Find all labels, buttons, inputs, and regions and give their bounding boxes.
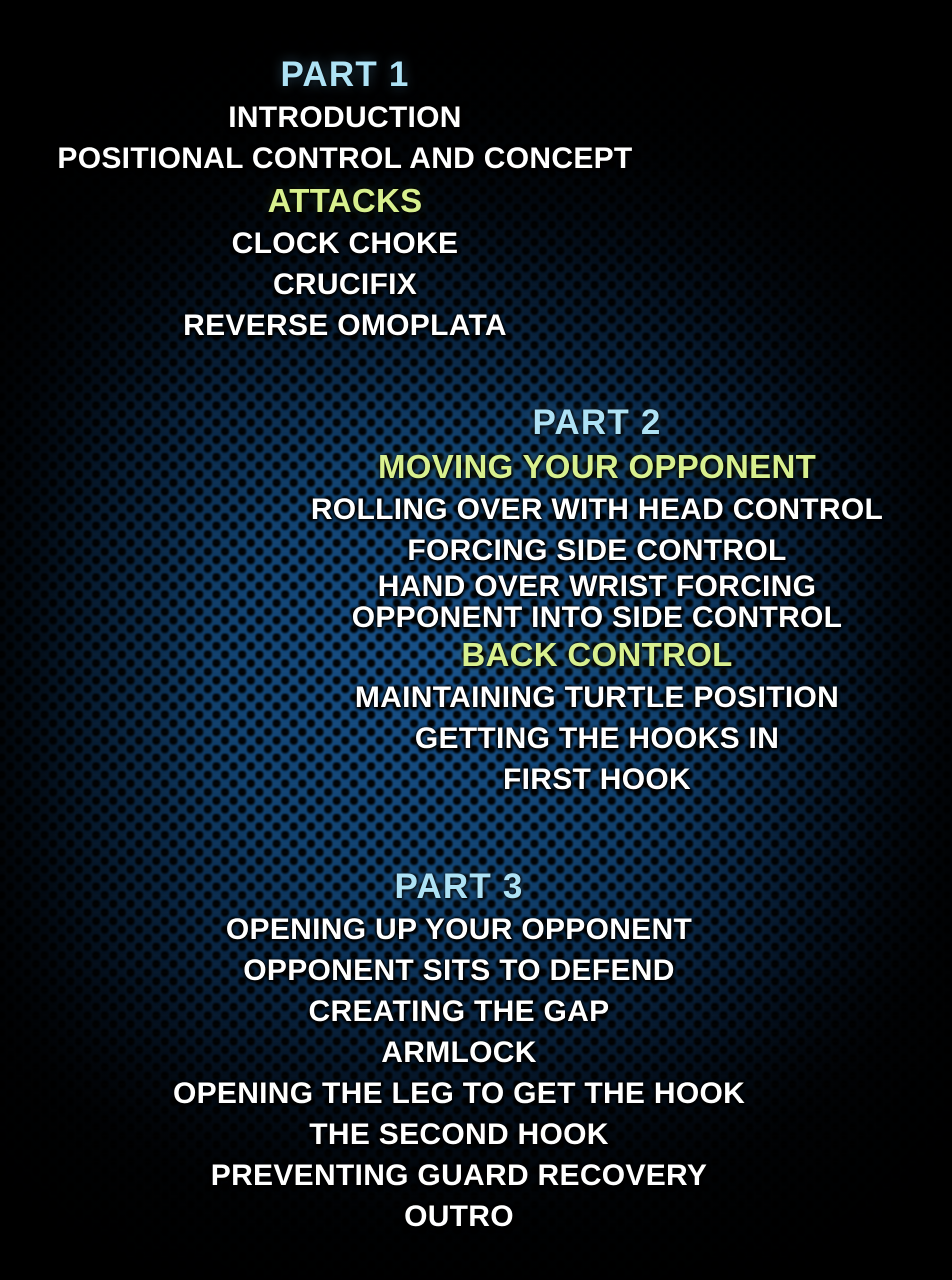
part-1-item-clock-choke: CLOCK CHOKE	[57, 223, 632, 264]
part-3-block: PART 3 OPENING UP YOUR OPPONENT OPPONENT…	[173, 864, 745, 1237]
part-2-item-first-hook: FIRST HOOK	[290, 759, 905, 800]
part-2-item-hand-over-wrist-forcing-opponent-into-side-control: HAND OVER WRIST FORCING OPPONENT INTO SI…	[290, 571, 905, 633]
part-3-item-opening-up-your-opponent: OPENING UP YOUR OPPONENT	[173, 909, 745, 950]
part-1-block: PART 1 INTRODUCTION POSITIONAL CONTROL A…	[57, 52, 632, 346]
part-1-item-reverse-omoplata: REVERSE OMOPLATA	[57, 305, 632, 346]
part-3-item-opening-the-leg-to-get-the-hook: OPENING THE LEG TO GET THE HOOK	[173, 1073, 745, 1114]
part-1-item-introduction: INTRODUCTION	[57, 97, 632, 138]
part-3-heading: PART 3	[173, 864, 745, 909]
part-3-item-preventing-guard-recovery: PREVENTING GUARD RECOVERY	[173, 1155, 745, 1196]
part-1-section-attacks: ATTACKS	[57, 179, 632, 223]
part-1-item-positional-control-and-concept: POSITIONAL CONTROL AND CONCEPT	[57, 138, 632, 179]
part-2-section-moving-your-opponent: MOVING YOUR OPPONENT	[290, 445, 905, 489]
part-2-item-rolling-over-with-head-control: ROLLING OVER WITH HEAD CONTROL	[290, 489, 905, 530]
part-3-item-opponent-sits-to-defend: OPPONENT SITS TO DEFEND	[173, 950, 745, 991]
part-3-item-armlock: ARMLOCK	[173, 1032, 745, 1073]
part-2-item-maintaining-turtle-position: MAINTAINING TURTLE POSITION	[290, 677, 905, 718]
part-2-section-back-control: BACK CONTROL	[290, 633, 905, 677]
part-2-item-getting-the-hooks-in: GETTING THE HOOKS IN	[290, 718, 905, 759]
part-1-heading: PART 1	[57, 52, 632, 97]
part-3-item-the-second-hook: THE SECOND HOOK	[173, 1114, 745, 1155]
part-3-item-outro: OUTRO	[173, 1196, 745, 1237]
part-1-item-crucifix: CRUCIFIX	[57, 264, 632, 305]
part-3-item-creating-the-gap: CREATING THE GAP	[173, 991, 745, 1032]
part-2-block: PART 2 MOVING YOUR OPPONENT ROLLING OVER…	[290, 400, 905, 800]
part-2-item-forcing-side-control: FORCING SIDE CONTROL	[290, 530, 905, 571]
curriculum-content: PART 1 INTRODUCTION POSITIONAL CONTROL A…	[0, 0, 952, 1280]
part-2-heading: PART 2	[290, 400, 905, 445]
curriculum-poster: PART 1 INTRODUCTION POSITIONAL CONTROL A…	[0, 0, 952, 1280]
